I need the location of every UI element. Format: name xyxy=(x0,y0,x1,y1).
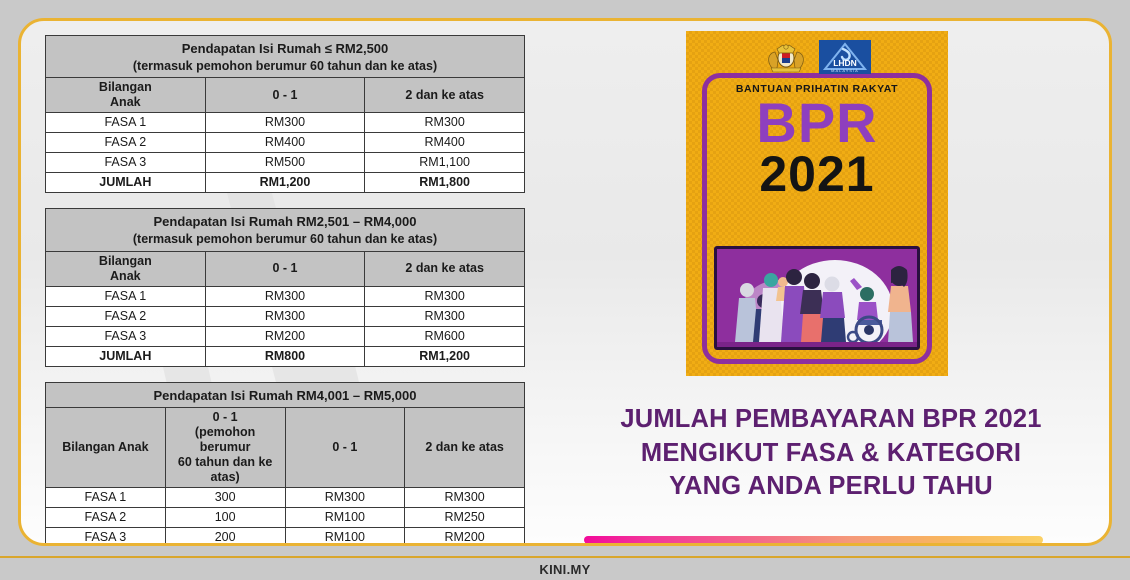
table-title-line1: Pendapatan Isi Rumah RM4,001 – RM5,000 xyxy=(50,387,520,405)
lhdn-logo-icon: LHDN MALAYSIA xyxy=(819,40,871,74)
row-label: FASA 2 xyxy=(46,306,206,326)
headline-block: JUMLAH PEMBAYARAN BPR 2021 MENGIKUT FASA… xyxy=(551,403,1111,504)
table-title-row: Pendapatan Isi Rumah RM2,501 – RM4,000 (… xyxy=(46,209,525,251)
table-title: Pendapatan Isi Rumah ≤ RM2,500 (termasuk… xyxy=(46,36,525,78)
row-value: RM300 xyxy=(285,488,405,508)
table-row: FASA 1 RM300 RM300 xyxy=(46,286,525,306)
column-header-2-plus: 2 dan ke atas xyxy=(365,78,525,113)
row-value: RM1,100 xyxy=(365,153,525,173)
poster-logos: LHDN MALAYSIA xyxy=(686,37,948,77)
row-label: FASA 1 xyxy=(46,286,206,306)
row-value: RM300 xyxy=(205,286,365,306)
income-table-3: Pendapatan Isi Rumah RM4,001 – RM5,000 B… xyxy=(45,382,525,546)
row-value: RM400 xyxy=(205,133,365,153)
column-header-0-1: 0 - 1 xyxy=(285,408,405,488)
column-header-0-1-senior-line2: (pemohon berumur xyxy=(195,425,255,454)
table-row: FASA 2 RM400 RM400 xyxy=(46,133,525,153)
bpr-poster: LHDN MALAYSIA BANTUAN PRIHATIN RAKYAT BP… xyxy=(686,31,948,376)
total-value: RM1,200 xyxy=(205,173,365,193)
accent-gradient-bar xyxy=(584,536,1043,544)
row-value: RM300 xyxy=(205,306,365,326)
total-value: RM1,800 xyxy=(365,173,525,193)
table-row: FASA 1 RM300 RM300 xyxy=(46,113,525,133)
column-header-children-line1: Bilangan xyxy=(99,80,152,94)
row-value: RM300 xyxy=(365,306,525,326)
row-value: RM300 xyxy=(405,488,525,508)
row-value: RM100 xyxy=(285,528,405,546)
table-total-row: JUMLAH RM800 RM1,200 xyxy=(46,346,525,366)
row-value: 300 xyxy=(165,488,285,508)
table-row: FASA 1 300 RM300 RM300 xyxy=(46,488,525,508)
row-value: RM200 xyxy=(205,326,365,346)
row-value: RM500 xyxy=(205,153,365,173)
column-header-0-1: 0 - 1 xyxy=(205,78,365,113)
table-header-row: Bilangan Anak 0 - 1 2 dan ke atas xyxy=(46,78,525,113)
total-label: JUMLAH xyxy=(46,346,206,366)
column-header-0-1: 0 - 1 xyxy=(205,251,365,286)
headline-line-2: MENGIKUT FASA & KATEGORI xyxy=(551,437,1111,471)
row-value: RM200 xyxy=(405,528,525,546)
row-value: RM250 xyxy=(405,508,525,528)
footer-divider xyxy=(0,556,1130,558)
row-value: RM100 xyxy=(285,508,405,528)
table-title-line1: Pendapatan Isi Rumah ≤ RM2,500 xyxy=(50,40,520,58)
column-header-2-plus: 2 dan ke atas xyxy=(405,408,525,488)
row-label: FASA 3 xyxy=(46,528,166,546)
headline-line-1: JUMLAH PEMBAYARAN BPR 2021 xyxy=(551,403,1111,437)
svg-text:MALAYSIA: MALAYSIA xyxy=(831,68,859,73)
total-value: RM1,200 xyxy=(365,346,525,366)
table-title-line2: (termasuk pemohon berumur 60 tahun dan k… xyxy=(50,58,520,75)
footer-site-label: KINI.MY xyxy=(0,562,1130,577)
row-label: FASA 3 xyxy=(46,326,206,346)
table-total-row: JUMLAH RM1,200 RM1,800 xyxy=(46,173,525,193)
table-row: FASA 3 RM500 RM1,100 xyxy=(46,153,525,173)
table-title: Pendapatan Isi Rumah RM4,001 – RM5,000 xyxy=(46,382,525,408)
total-label: JUMLAH xyxy=(46,173,206,193)
table-header-row: Bilangan Anak 0 - 1 2 dan ke atas xyxy=(46,251,525,286)
table-title-line2: (termasuk pemohon berumur 60 tahun dan k… xyxy=(50,231,520,248)
content-card: Pendapatan Isi Rumah ≤ RM2,500 (termasuk… xyxy=(18,18,1112,546)
table-row: FASA 3 200 RM100 RM200 xyxy=(46,528,525,546)
row-value: RM400 xyxy=(365,133,525,153)
column-header-children: Bilangan Anak xyxy=(46,408,166,488)
column-header-0-1-senior-line1: 0 - 1 xyxy=(213,410,238,424)
table-title: Pendapatan Isi Rumah RM2,501 – RM4,000 (… xyxy=(46,209,525,251)
row-value: RM600 xyxy=(365,326,525,346)
right-column: LHDN MALAYSIA BANTUAN PRIHATIN RAKYAT BP… xyxy=(551,21,1111,543)
row-value: 100 xyxy=(165,508,285,528)
column-header-children: Bilangan Anak xyxy=(46,251,206,286)
table-row: FASA 3 RM200 RM600 xyxy=(46,326,525,346)
row-label: FASA 2 xyxy=(46,133,206,153)
row-value: 200 xyxy=(165,528,285,546)
table-header-row: Bilangan Anak 0 - 1 (pemohon berumur 60 … xyxy=(46,408,525,488)
malaysia-coat-of-arms-icon xyxy=(763,40,809,74)
table-title-row: Pendapatan Isi Rumah RM4,001 – RM5,000 xyxy=(46,382,525,408)
income-table-2: Pendapatan Isi Rumah RM2,501 – RM4,000 (… xyxy=(45,208,525,366)
tables-column: Pendapatan Isi Rumah ≤ RM2,500 (termasuk… xyxy=(45,35,527,546)
headline-line-3: YANG ANDA PERLU TAHU xyxy=(551,470,1111,504)
column-header-0-1-senior: 0 - 1 (pemohon berumur 60 tahun dan ke a… xyxy=(165,408,285,488)
income-table-1: Pendapatan Isi Rumah ≤ RM2,500 (termasuk… xyxy=(45,35,525,193)
poster-year: 2021 xyxy=(686,149,948,199)
row-label: FASA 1 xyxy=(46,113,206,133)
row-label: FASA 3 xyxy=(46,153,206,173)
poster-illustration xyxy=(714,246,920,350)
table-row: FASA 2 RM300 RM300 xyxy=(46,306,525,326)
table-row: FASA 2 100 RM100 RM250 xyxy=(46,508,525,528)
svg-text:LHDN: LHDN xyxy=(833,58,857,68)
row-value: RM300 xyxy=(205,113,365,133)
table-title-row: Pendapatan Isi Rumah ≤ RM2,500 (termasuk… xyxy=(46,36,525,78)
table-title-line1: Pendapatan Isi Rumah RM2,501 – RM4,000 xyxy=(50,213,520,231)
row-label: FASA 2 xyxy=(46,508,166,528)
poster-text-block: BANTUAN PRIHATIN RAKYAT BPR 2021 xyxy=(686,83,948,199)
total-value: RM800 xyxy=(205,346,365,366)
row-label: FASA 1 xyxy=(46,488,166,508)
row-value: RM300 xyxy=(365,113,525,133)
column-header-0-1-senior-line3: 60 tahun dan ke atas) xyxy=(178,455,272,484)
row-value: RM300 xyxy=(365,286,525,306)
column-header-children-line1: Bilangan xyxy=(99,254,152,268)
column-header-2-plus: 2 dan ke atas xyxy=(365,251,525,286)
poster-acronym: BPR xyxy=(686,96,948,149)
people-illustration-icon xyxy=(717,249,917,347)
column-header-children-line2: Anak xyxy=(110,95,141,109)
column-header-children-line2: Anak xyxy=(110,269,141,283)
column-header-children: Bilangan Anak xyxy=(46,78,206,113)
